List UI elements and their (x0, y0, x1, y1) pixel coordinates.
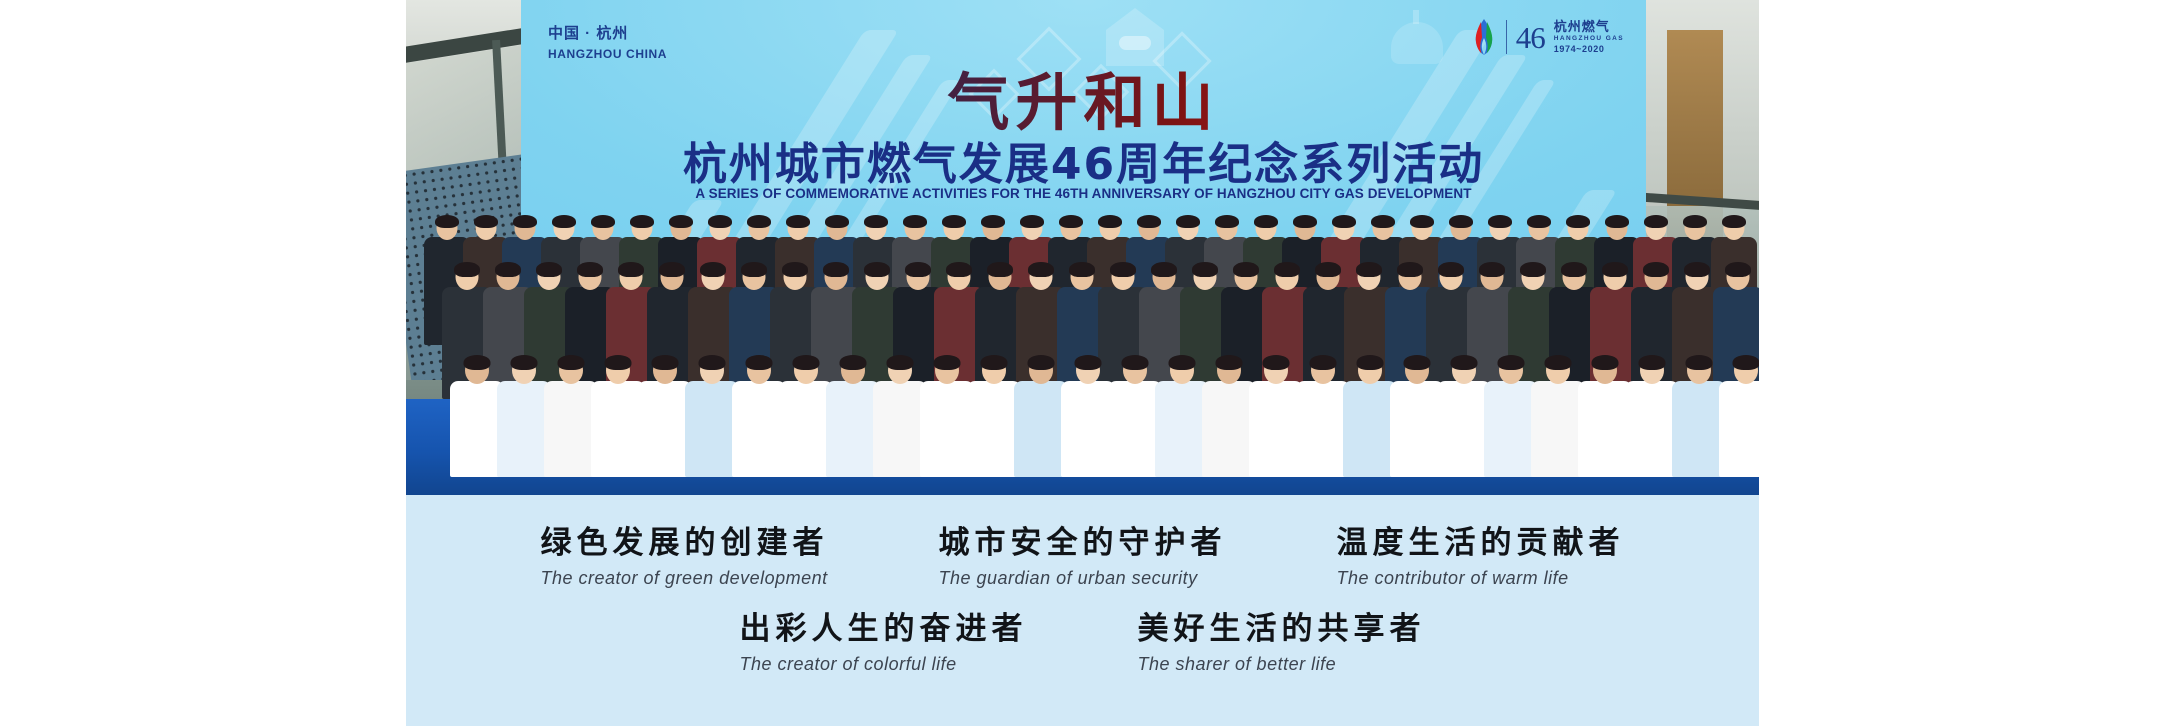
person-figure (920, 349, 974, 477)
person-hair (1592, 355, 1619, 370)
slogan-en: The contributor of warm life (1337, 568, 1625, 589)
person-hair (1643, 262, 1669, 276)
person-hair (474, 215, 498, 228)
crowd-group (406, 165, 1759, 495)
person-hair (1075, 355, 1102, 370)
person-hair (1520, 262, 1546, 276)
person-torso (1531, 381, 1585, 477)
person-hair (618, 262, 644, 276)
person-torso (1202, 381, 1256, 477)
cloud-watermark-icon (1119, 36, 1151, 50)
person-figure (1296, 349, 1350, 477)
person-hair (1059, 215, 1083, 228)
person-figure (1719, 349, 1759, 477)
group-photo: 中国 · 杭州 HANGZHOU CHINA 46 杭州燃气 HANGZHOU … (406, 0, 1759, 495)
person-hair (1438, 262, 1464, 276)
person-hair (495, 262, 521, 276)
person-hair (1315, 262, 1341, 276)
person-torso (685, 381, 739, 477)
person-hair (1274, 262, 1300, 276)
person-torso (1296, 381, 1350, 477)
slogan-cn: 出彩人生的奋进者 (740, 603, 1028, 648)
person-hair (435, 215, 459, 228)
slogan-cn: 城市安全的守护者 (939, 517, 1227, 562)
slogan-en: The sharer of better life (1138, 654, 1426, 675)
person-figure (544, 349, 598, 477)
person-hair (905, 262, 931, 276)
person-hair (513, 215, 537, 228)
person-torso (1625, 381, 1679, 477)
person-hair (1137, 215, 1161, 228)
person-hair (1479, 262, 1505, 276)
anniversary-number: 46 (1516, 22, 1545, 53)
person-figure (450, 349, 504, 477)
person-figure (732, 349, 786, 477)
slogan-row-2: 出彩人生的奋进者The creator of colorful life美好生活… (406, 589, 1759, 675)
person-figure (826, 349, 880, 477)
person-hair (981, 215, 1005, 228)
person-torso (920, 381, 974, 477)
person-hair (981, 355, 1008, 370)
person-hair (708, 215, 732, 228)
person-torso (1108, 381, 1162, 477)
person-hair (1176, 215, 1200, 228)
person-figure (1343, 349, 1397, 477)
person-figure (1014, 349, 1068, 477)
hangzhou-gas-logo: 46 杭州燃气 HANGZHOU GAS 1974~2020 (1471, 18, 1624, 56)
person-hair (1254, 215, 1278, 228)
location-cn: 中国 · 杭州 (548, 24, 667, 44)
person-hair (511, 355, 538, 370)
person-figure (1531, 349, 1585, 477)
person-hair (652, 355, 679, 370)
slogan-item: 绿色发展的创建者The creator of green development (541, 517, 829, 589)
person-figure (1061, 349, 1115, 477)
person-hair (823, 262, 849, 276)
person-hair (747, 215, 771, 228)
flame-icon (1471, 18, 1497, 56)
person-hair (1357, 355, 1384, 370)
person-torso (591, 381, 645, 477)
person-hair (825, 215, 849, 228)
person-torso (1578, 381, 1632, 477)
person-torso (732, 381, 786, 477)
person-hair (536, 262, 562, 276)
slogan-en: The creator of colorful life (740, 654, 1028, 675)
page-root: 中国 · 杭州 HANGZHOU CHINA 46 杭州燃气 HANGZHOU … (0, 0, 2179, 726)
person-hair (793, 355, 820, 370)
person-figure (1390, 349, 1444, 477)
person-hair (454, 262, 480, 276)
person-torso (1249, 381, 1303, 477)
person-hair (786, 215, 810, 228)
person-hair (864, 262, 890, 276)
person-hair (864, 215, 888, 228)
person-torso (544, 381, 598, 477)
person-hair (1122, 355, 1149, 370)
person-figure (1202, 349, 1256, 477)
person-hair (699, 355, 726, 370)
person-hair (1449, 215, 1473, 228)
person-torso (967, 381, 1021, 477)
person-hair (591, 215, 615, 228)
person-hair (746, 355, 773, 370)
person-hair (782, 262, 808, 276)
person-hair (1566, 215, 1590, 228)
person-hair (1110, 262, 1136, 276)
person-torso (826, 381, 880, 477)
person-hair (1410, 215, 1434, 228)
person-hair (1725, 262, 1751, 276)
person-hair (1169, 355, 1196, 370)
person-hair (464, 355, 491, 370)
person-hair (1233, 262, 1259, 276)
person-figure (1249, 349, 1303, 477)
person-hair (887, 355, 914, 370)
person-hair (1639, 355, 1666, 370)
person-hair (1722, 215, 1746, 228)
person-hair (1069, 262, 1095, 276)
person-hair (659, 262, 685, 276)
person-figure (685, 349, 739, 477)
person-figure (591, 349, 645, 477)
person-hair (903, 215, 927, 228)
person-torso (450, 381, 504, 477)
slogan-item: 出彩人生的奋进者The creator of colorful life (740, 603, 1028, 675)
person-figure (779, 349, 833, 477)
brand-en: HANGZHOU GAS (1554, 35, 1624, 43)
person-hair (934, 355, 961, 370)
person-hair (1151, 262, 1177, 276)
person-hair (577, 262, 603, 276)
person-torso (1719, 381, 1759, 477)
person-hair (1684, 262, 1710, 276)
person-hair (1686, 355, 1713, 370)
person-hair (1020, 215, 1044, 228)
person-hair (1733, 355, 1760, 370)
person-torso (1014, 381, 1068, 477)
slogan-item: 温度生活的贡献者The contributor of warm life (1337, 517, 1625, 589)
person-hair (1215, 215, 1239, 228)
person-torso (1484, 381, 1538, 477)
person-figure (873, 349, 927, 477)
slogan-en: The guardian of urban security (939, 568, 1227, 589)
person-hair (942, 215, 966, 228)
slogan-en: The creator of green development (541, 568, 829, 589)
person-hair (1527, 215, 1551, 228)
person-hair (1293, 215, 1317, 228)
person-torso (873, 381, 927, 477)
person-hair (700, 262, 726, 276)
person-hair (741, 262, 767, 276)
person-torso (779, 381, 833, 477)
person-figure (1484, 349, 1538, 477)
person-figure (967, 349, 1021, 477)
person-hair (1356, 262, 1382, 276)
slogan-cn: 绿色发展的创建者 (541, 517, 829, 562)
logo-text-block: 杭州燃气 HANGZHOU GAS 1974~2020 (1554, 19, 1624, 56)
slogan-row-1: 绿色发展的创建者The creator of green development… (406, 495, 1759, 589)
person-figure (1625, 349, 1679, 477)
person-hair (1098, 215, 1122, 228)
person-hair (1561, 262, 1587, 276)
person-figure (1578, 349, 1632, 477)
person-figure (1108, 349, 1162, 477)
person-hair (840, 355, 867, 370)
person-hair (1644, 215, 1668, 228)
person-hair (1397, 262, 1423, 276)
person-hair (1605, 215, 1629, 228)
person-torso (1155, 381, 1209, 477)
slogan-cn: 美好生活的共享者 (1138, 603, 1426, 648)
person-hair (552, 215, 576, 228)
person-hair (1028, 355, 1055, 370)
person-hair (1602, 262, 1628, 276)
person-hair (1371, 215, 1395, 228)
person-torso (638, 381, 692, 477)
person-hair (1488, 215, 1512, 228)
slogan-cn: 温度生活的贡献者 (1337, 517, 1625, 562)
person-torso (1343, 381, 1397, 477)
person-figure (497, 349, 551, 477)
person-hair (1028, 262, 1054, 276)
person-hair (1451, 355, 1478, 370)
person-hair (1498, 355, 1525, 370)
person-hair (1216, 355, 1243, 370)
person-hair (630, 215, 654, 228)
person-hair (669, 215, 693, 228)
content-block: 中国 · 杭州 HANGZHOU CHINA 46 杭州燃气 HANGZHOU … (406, 0, 1759, 726)
person-hair (1683, 215, 1707, 228)
person-hair (1310, 355, 1337, 370)
person-figure (638, 349, 692, 477)
person-hair (1192, 262, 1218, 276)
slogan-item: 城市安全的守护者The guardian of urban security (939, 517, 1227, 589)
person-hair (1332, 215, 1356, 228)
person-torso (1672, 381, 1726, 477)
person-hair (1263, 355, 1290, 370)
person-hair (605, 355, 632, 370)
person-figure (1155, 349, 1209, 477)
person-hair (1545, 355, 1572, 370)
person-hair (558, 355, 585, 370)
person-torso (1061, 381, 1115, 477)
logo-divider (1506, 20, 1507, 54)
person-hair (987, 262, 1013, 276)
person-torso (497, 381, 551, 477)
person-torso (1437, 381, 1491, 477)
person-figure (1672, 349, 1726, 477)
slogan-item: 美好生活的共享者The sharer of better life (1138, 603, 1426, 675)
person-hair (1404, 355, 1431, 370)
person-hair (946, 262, 972, 276)
person-torso (1390, 381, 1444, 477)
brand-cn: 杭州燃气 (1554, 19, 1624, 35)
slogan-panel: 绿色发展的创建者The creator of green development… (406, 495, 1759, 726)
person-figure (1437, 349, 1491, 477)
